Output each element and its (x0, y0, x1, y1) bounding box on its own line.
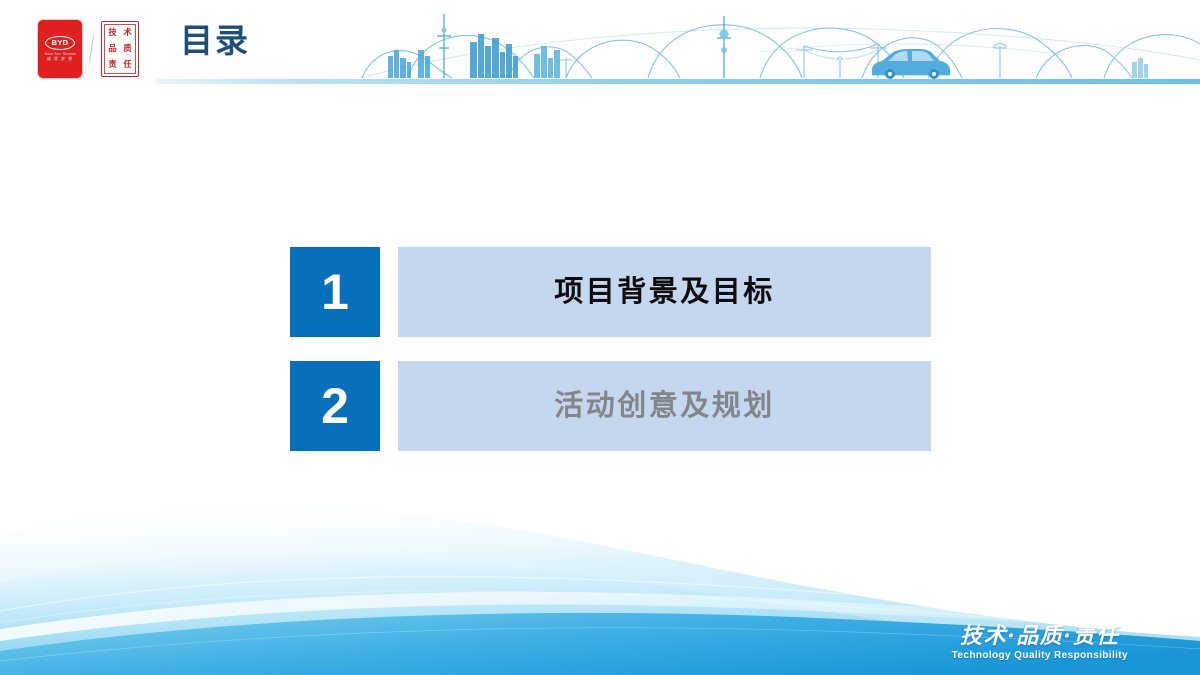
slogan-chinese: 技术·品质·责任 (952, 625, 1128, 647)
seal-char-4: 质 (123, 45, 131, 53)
byd-logo: BYD Build Your Dreams 成 就 梦 想 (38, 20, 82, 78)
seal-char-5: 责 (108, 61, 116, 69)
seal-char-3: 品 (108, 45, 116, 53)
byd-wordmark: BYD (52, 39, 69, 47)
slogan-english: Technology Quality Responsibility (952, 651, 1128, 661)
agenda-number-box-2: 2 (290, 361, 380, 451)
agenda-number-2: 2 (321, 381, 349, 431)
slide-root: BYD Build Your Dreams 成 就 梦 想 技 术 品 质 责 … (0, 0, 1200, 675)
seal-inner-frame: 技 术 品 质 责 任 (104, 24, 136, 74)
seal-char-1: 技 (108, 29, 116, 37)
agenda-label-panel-2[interactable]: 活动创意及规划 (398, 361, 931, 451)
page-title: 目录 (180, 24, 250, 57)
quality-seal-stamp: 技 术 品 质 责 任 (101, 21, 139, 77)
header-divider-rule (156, 79, 1200, 84)
logo-divider (88, 27, 96, 71)
agenda-label-1: 项目背景及目标 (554, 278, 775, 307)
agenda-number-1: 1 (321, 267, 349, 317)
agenda-menu: 1 项目背景及目标 2 活动创意及规划 (0, 0, 1200, 675)
agenda-item-2[interactable]: 2 活动创意及规划 (290, 361, 931, 451)
footer-slogan: 技术·品质·责任 Technology Quality Responsibili… (952, 625, 1128, 661)
car-icon (872, 49, 950, 75)
slide-header: BYD Build Your Dreams 成 就 梦 想 技 术 品 质 责 … (0, 0, 1200, 96)
seal-char-2: 术 (123, 29, 131, 37)
agenda-label-panel-1[interactable]: 项目背景及目标 (398, 247, 931, 337)
byd-tagline-en: Build Your Dreams (44, 52, 75, 56)
agenda-label-2: 活动创意及规划 (554, 392, 775, 421)
byd-tagline-cn: 成 就 梦 想 (47, 57, 73, 62)
seal-char-6: 任 (123, 61, 131, 69)
byd-wordmark-oval: BYD (45, 36, 75, 50)
agenda-item-1[interactable]: 1 项目背景及目标 (290, 247, 931, 337)
agenda-number-box-1: 1 (290, 247, 380, 337)
brand-logo-group: BYD Build Your Dreams 成 就 梦 想 技 术 品 质 责 … (38, 18, 148, 80)
